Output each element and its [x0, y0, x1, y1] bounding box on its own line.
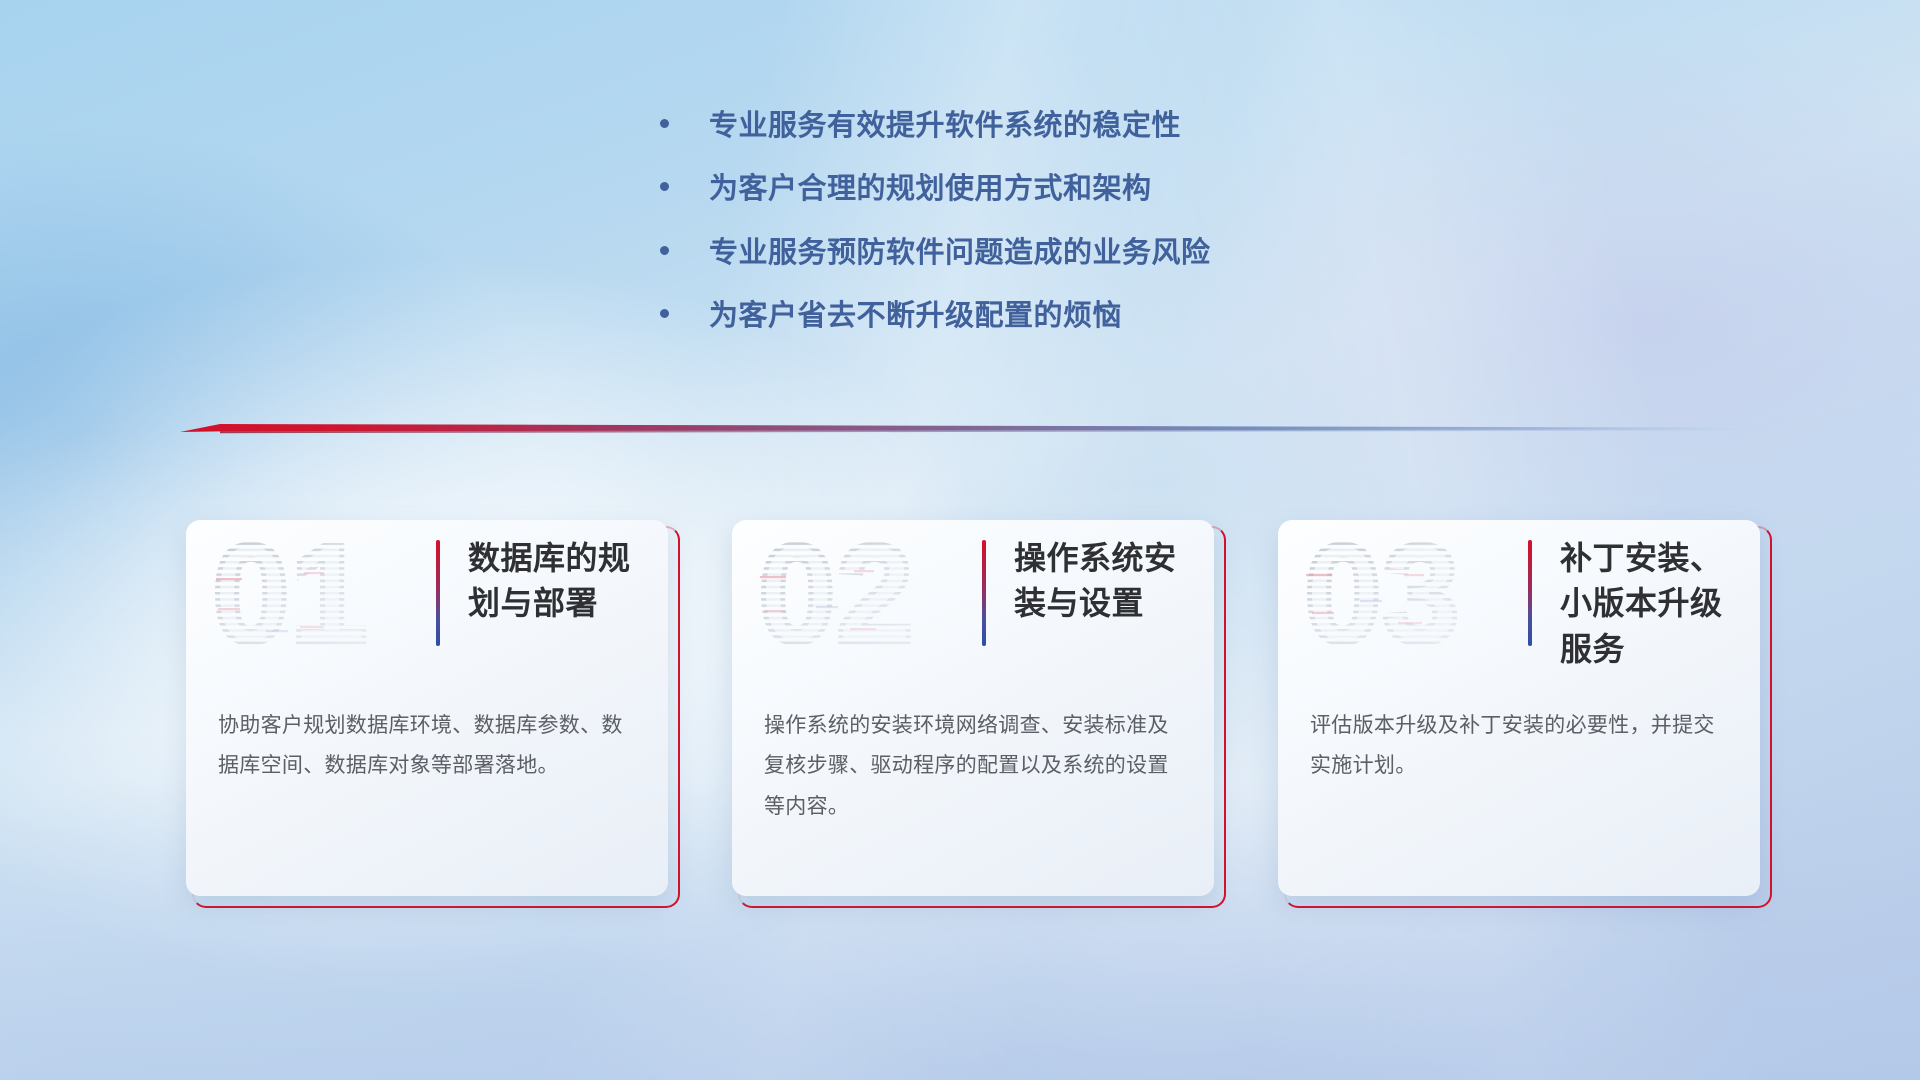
- title-accent-rule: [982, 540, 986, 646]
- bullet-text: 为客户省去不断升级配置的烦恼: [709, 298, 1122, 334]
- card-row: 01 01 数据库的规划与部署 协助客户规划: [186, 520, 1766, 910]
- title-accent-rule: [1528, 540, 1532, 646]
- bullet-dot-icon: [660, 309, 669, 318]
- bullet-list: 专业服务有效提升软件系统的稳定性 为客户合理的规划使用方式和架构 专业服务预防软…: [660, 108, 1420, 361]
- list-item: 专业服务有效提升软件系统的稳定性: [660, 108, 1420, 144]
- list-item: 专业服务预防软件问题造成的业务风险: [660, 235, 1420, 271]
- card-03[interactable]: 03 03 补丁安装、小版本升级服务 评估版: [1278, 520, 1766, 902]
- svg-text:03: 03: [1304, 530, 1460, 662]
- card-title: 数据库的规划与部署: [468, 536, 660, 627]
- list-item: 为客户省去不断升级配置的烦恼: [660, 298, 1420, 334]
- card-panel: 02 02 操作系统安装与设置 操作系统的安: [732, 520, 1214, 896]
- card-body-text: 协助客户规划数据库环境、数据库参数、数据库空间、数据库对象等部署落地。: [218, 706, 642, 787]
- svg-text:01: 01: [212, 530, 368, 662]
- bullet-dot-icon: [660, 246, 669, 255]
- card-header: 01 01 数据库的规划与部署: [186, 520, 668, 670]
- bullet-text: 为客户合理的规划使用方式和架构: [709, 171, 1152, 207]
- list-item: 为客户合理的规划使用方式和架构: [660, 171, 1420, 207]
- bullet-text: 专业服务有效提升软件系统的稳定性: [709, 108, 1181, 144]
- section-divider: [180, 418, 1750, 440]
- card-header: 02 02 操作系统安装与设置: [732, 520, 1214, 670]
- card-01[interactable]: 01 01 数据库的规划与部署 协助客户规划: [186, 520, 674, 902]
- ghost-number-03-icon: 03 03: [1300, 530, 1510, 662]
- card-body-text: 操作系统的安装环境网络调查、安装标准及复核步骤、驱动程序的配置以及系统的设置等内…: [764, 706, 1188, 827]
- card-body-text: 评估版本升级及补丁安装的必要性，并提交实施计划。: [1310, 706, 1734, 787]
- card-panel: 01 01 数据库的规划与部署 协助客户规划: [186, 520, 668, 896]
- card-title: 补丁安装、小版本升级服务: [1560, 536, 1752, 672]
- ghost-number-01-icon: 01 01: [208, 530, 418, 662]
- card-panel: 03 03 补丁安装、小版本升级服务 评估版: [1278, 520, 1760, 896]
- bullet-dot-icon: [660, 119, 669, 128]
- ghost-number-02-icon: 02 02: [754, 530, 964, 662]
- card-title: 操作系统安装与设置: [1014, 536, 1206, 627]
- card-header: 03 03 补丁安装、小版本升级服务: [1278, 520, 1760, 670]
- bullet-dot-icon: [660, 182, 669, 191]
- card-02[interactable]: 02 02 操作系统安装与设置 操作系统的安: [732, 520, 1220, 902]
- slide-root: 专业服务有效提升软件系统的稳定性 为客户合理的规划使用方式和架构 专业服务预防软…: [0, 0, 1920, 1080]
- bullet-text: 专业服务预防软件问题造成的业务风险: [709, 235, 1211, 271]
- svg-text:02: 02: [758, 530, 914, 662]
- title-accent-rule: [436, 540, 440, 646]
